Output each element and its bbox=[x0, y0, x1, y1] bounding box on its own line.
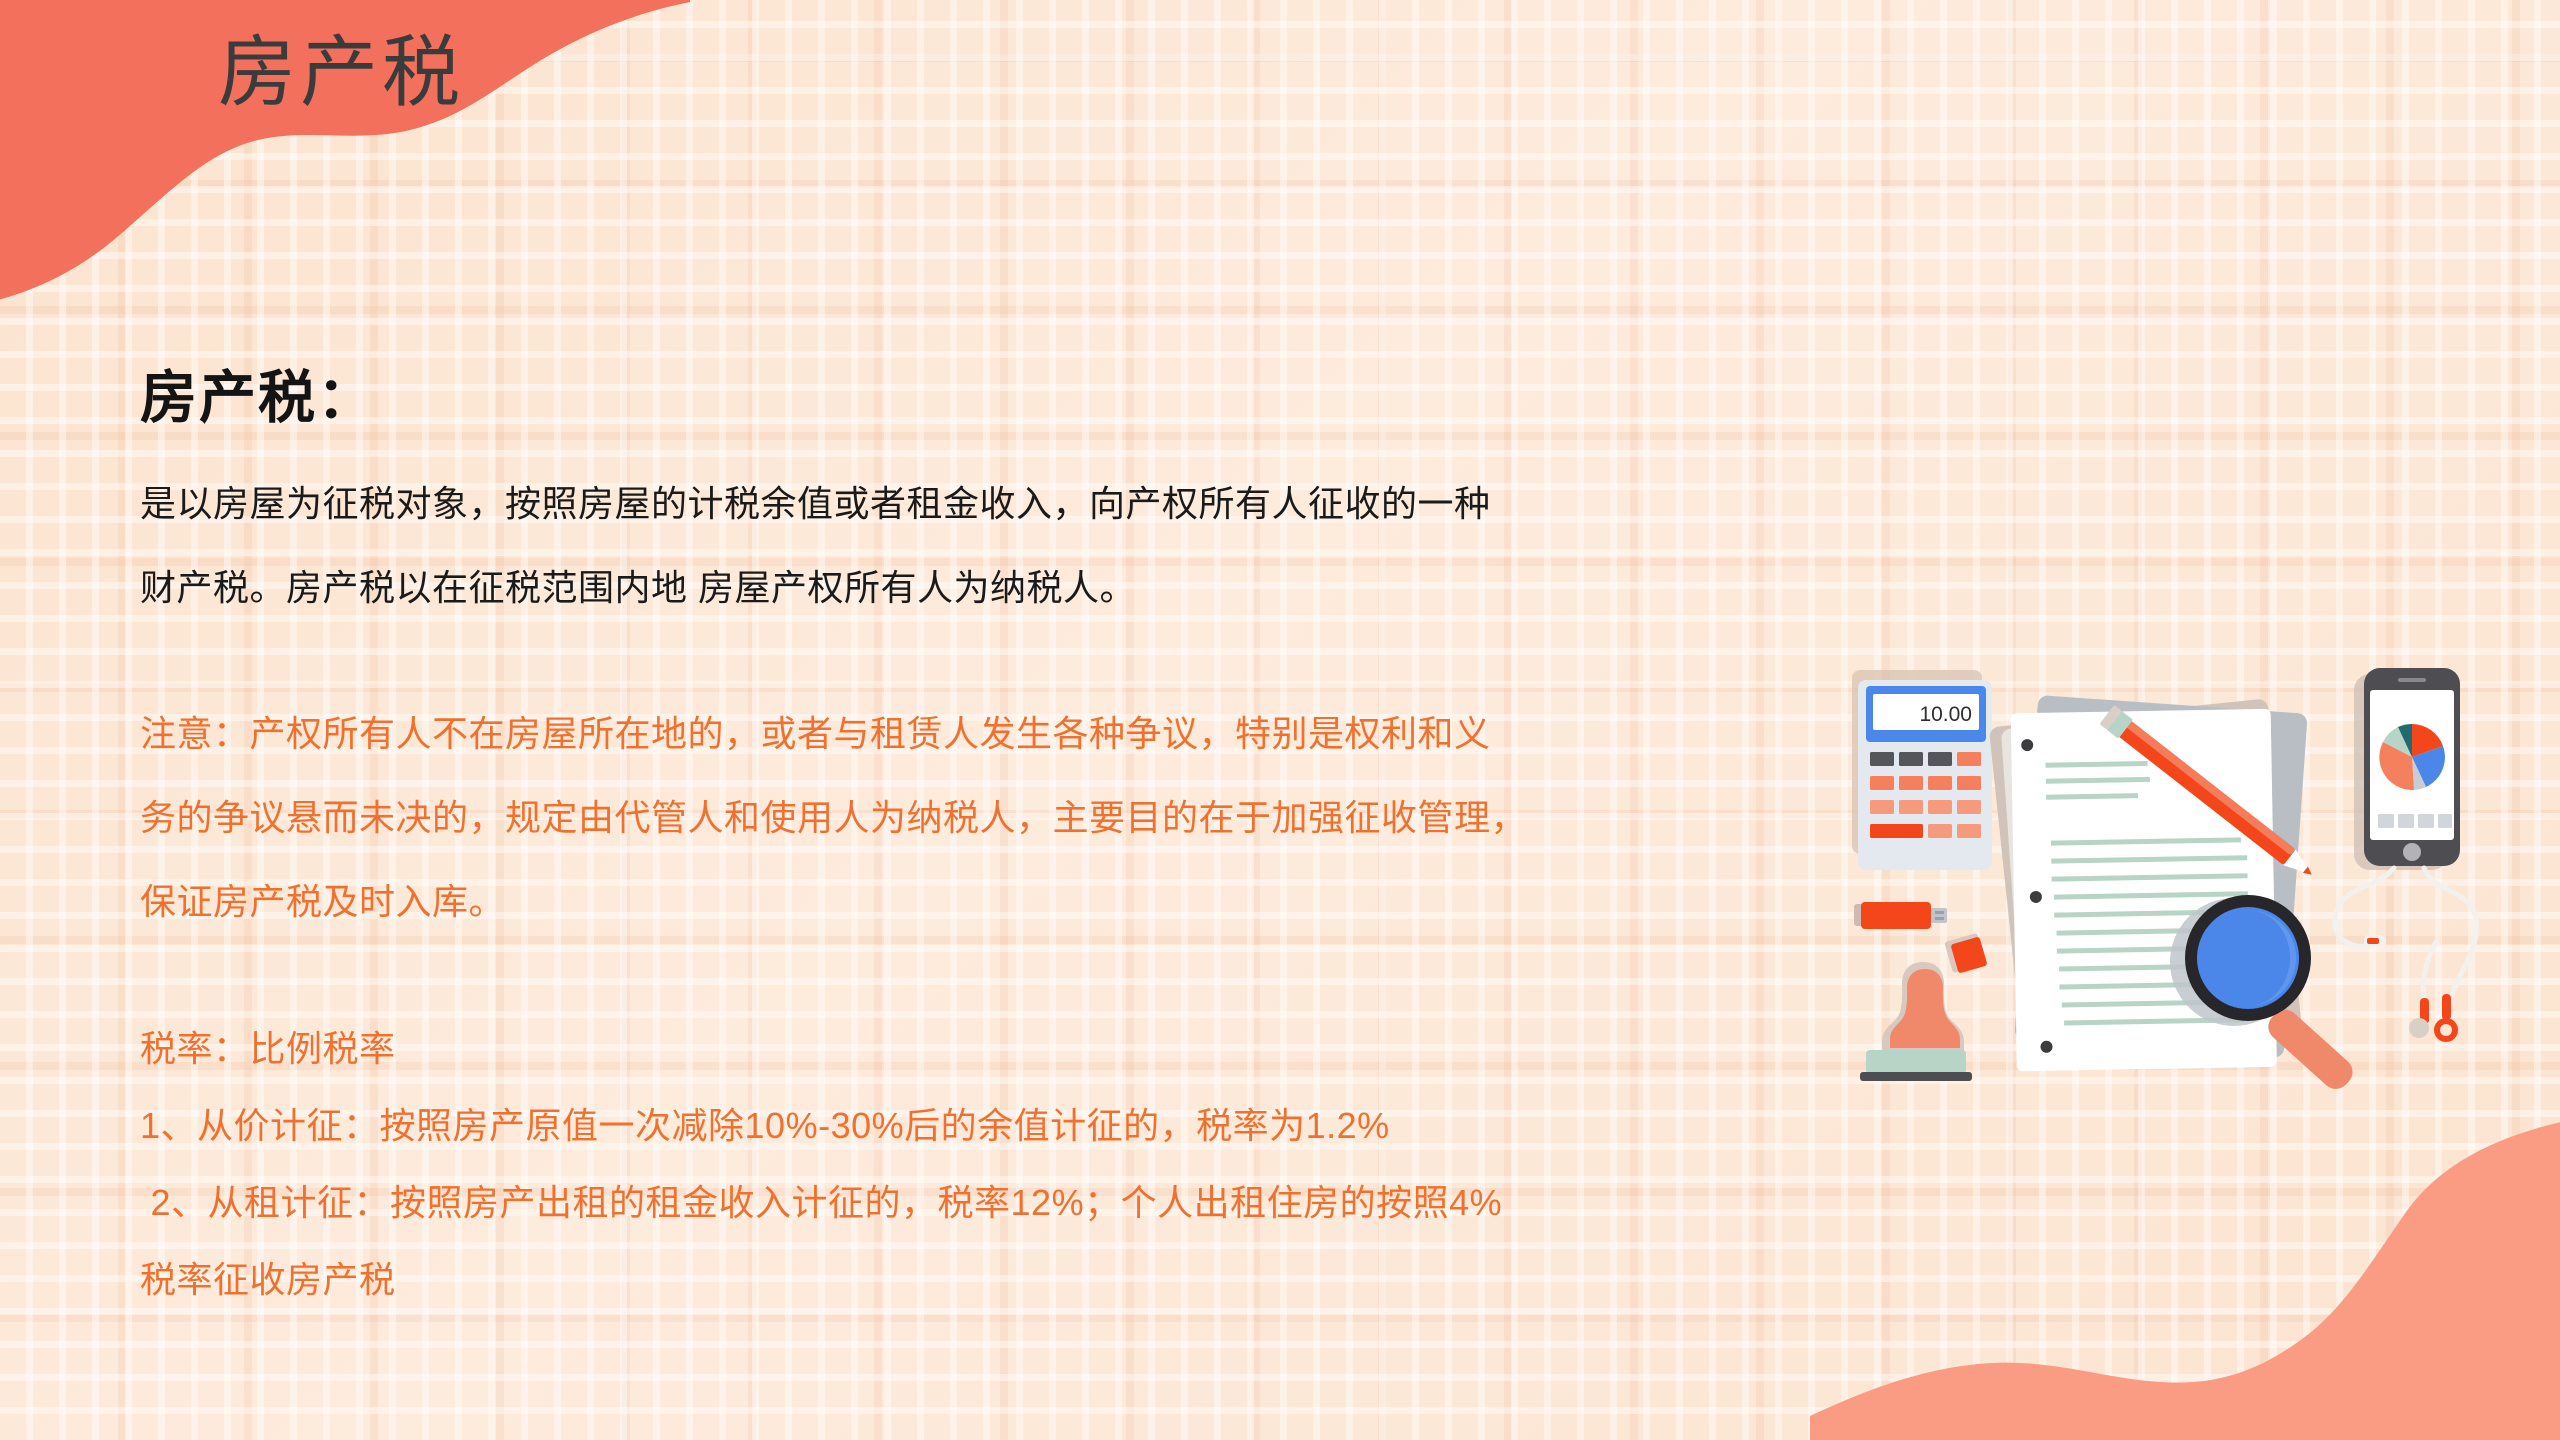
rates-line-1: 税率：比例税率 bbox=[140, 1010, 1780, 1087]
calculator-icon: 10.00 bbox=[1852, 670, 1992, 870]
eraser-icon bbox=[1944, 933, 1987, 974]
rubber-stamp-icon bbox=[1860, 962, 1972, 1081]
note-line-1: 注意：产权所有人不在房屋所在地的，或者与租赁人发生各种争议，特别是权利和义 bbox=[140, 692, 1780, 776]
note-line-3: 保证房产税及时入库。 bbox=[140, 860, 1780, 944]
smartphone-icon bbox=[2354, 668, 2460, 870]
definition-line-1: 是以房屋为征税对象，按照房屋的计税余值或者租金收入，向产权所有人征收的一种 bbox=[140, 462, 1780, 546]
slide-canvas: 房产税 房产税： 是以房屋为征税对象，按照房屋的计税余值或者租金收入，向产权所有… bbox=[0, 0, 2560, 1440]
note-line-2: 务的争议悬而未决的，规定由代管人和使用人为纳税人，主要目的在于加强征收管理， bbox=[140, 776, 1780, 860]
desk-illustration: 10.00 bbox=[1836, 652, 2496, 1092]
calculator-display-value: 10.00 bbox=[1919, 703, 1972, 726]
rates-line-4: 税率征收房产税 bbox=[140, 1241, 1780, 1318]
rates-line-2: 1、从价计征：按照房产原值一次减除10%-30%后的余值计征的，税率为1.2% bbox=[140, 1087, 1780, 1164]
definition-paragraph: 是以房屋为征税对象，按照房屋的计税余值或者租金收入，向产权所有人征收的一种 财产… bbox=[140, 462, 1780, 630]
usb-drive-icon bbox=[1854, 902, 1947, 929]
earphones-icon bbox=[2335, 868, 2477, 1004]
pie-chart-icon bbox=[2379, 724, 2445, 790]
earphone-buds bbox=[2364, 935, 2458, 1042]
definition-line-2: 财产税。房产税以在征税范围内地 房屋产权所有人为纳税人。 bbox=[140, 546, 1780, 630]
note-paragraph: 注意：产权所有人不在房屋所在地的，或者与租赁人发生各种争议，特别是权利和义 务的… bbox=[140, 692, 1780, 944]
section-heading: 房产税： bbox=[140, 352, 376, 434]
tax-rates-paragraph: 税率：比例税率 1、从价计征：按照房产原值一次减除10%-30%后的余值计征的，… bbox=[140, 1010, 1780, 1318]
page-title: 房产税 bbox=[218, 28, 464, 118]
rates-line-3: 2、从租计征：按照房产出租的租金收入计征的，税率12%；个人出租住房的按照4% bbox=[140, 1164, 1780, 1241]
